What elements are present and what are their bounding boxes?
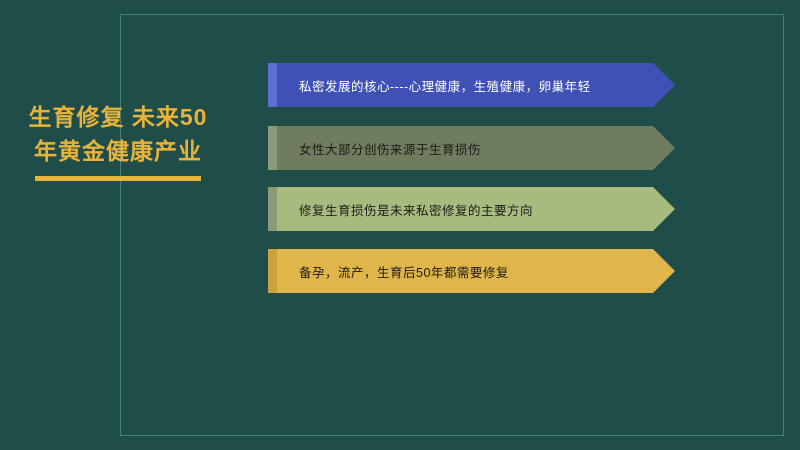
arrow-bar-4-cap [268,249,277,293]
arrow-bar-1-label: 私密发展的核心----心理健康，生殖健康，卵巢年轻 [277,76,591,95]
arrow-bar-3[interactable]: 修复生育损伤是未来私密修复的主要方向 [268,187,675,231]
arrow-bar-2-cap [268,126,277,170]
arrow-bar-4-body: 备孕，流产，生育后50年都需要修复 [277,249,675,293]
arrow-bar-1-body: 私密发展的核心----心理健康，生殖健康，卵巢年轻 [277,63,675,107]
arrow-bar-4-label: 备孕，流产，生育后50年都需要修复 [277,262,509,281]
page-title: 生育修复 未来50年黄金健康产业 [18,100,218,168]
arrow-bar-3-body: 修复生育损伤是未来私密修复的主要方向 [277,187,675,231]
arrow-bar-1[interactable]: 私密发展的核心----心理健康，生殖健康，卵巢年轻 [268,63,675,107]
arrow-bar-1-cap [268,63,277,107]
arrow-bar-2-body: 女性大部分创伤来源于生育损伤 [277,126,675,170]
arrow-bar-4[interactable]: 备孕，流产，生育后50年都需要修复 [268,249,675,293]
title-underline [35,176,201,181]
arrow-bar-2-label: 女性大部分创伤来源于生育损伤 [277,139,481,158]
slide-canvas: 生育修复 未来50年黄金健康产业 私密发展的核心----心理健康，生殖健康，卵巢… [0,0,800,450]
arrow-bar-2[interactable]: 女性大部分创伤来源于生育损伤 [268,126,675,170]
arrow-bar-3-cap [268,187,277,231]
title-block: 生育修复 未来50年黄金健康产业 [18,100,218,181]
arrow-bar-3-label: 修复生育损伤是未来私密修复的主要方向 [277,200,533,219]
